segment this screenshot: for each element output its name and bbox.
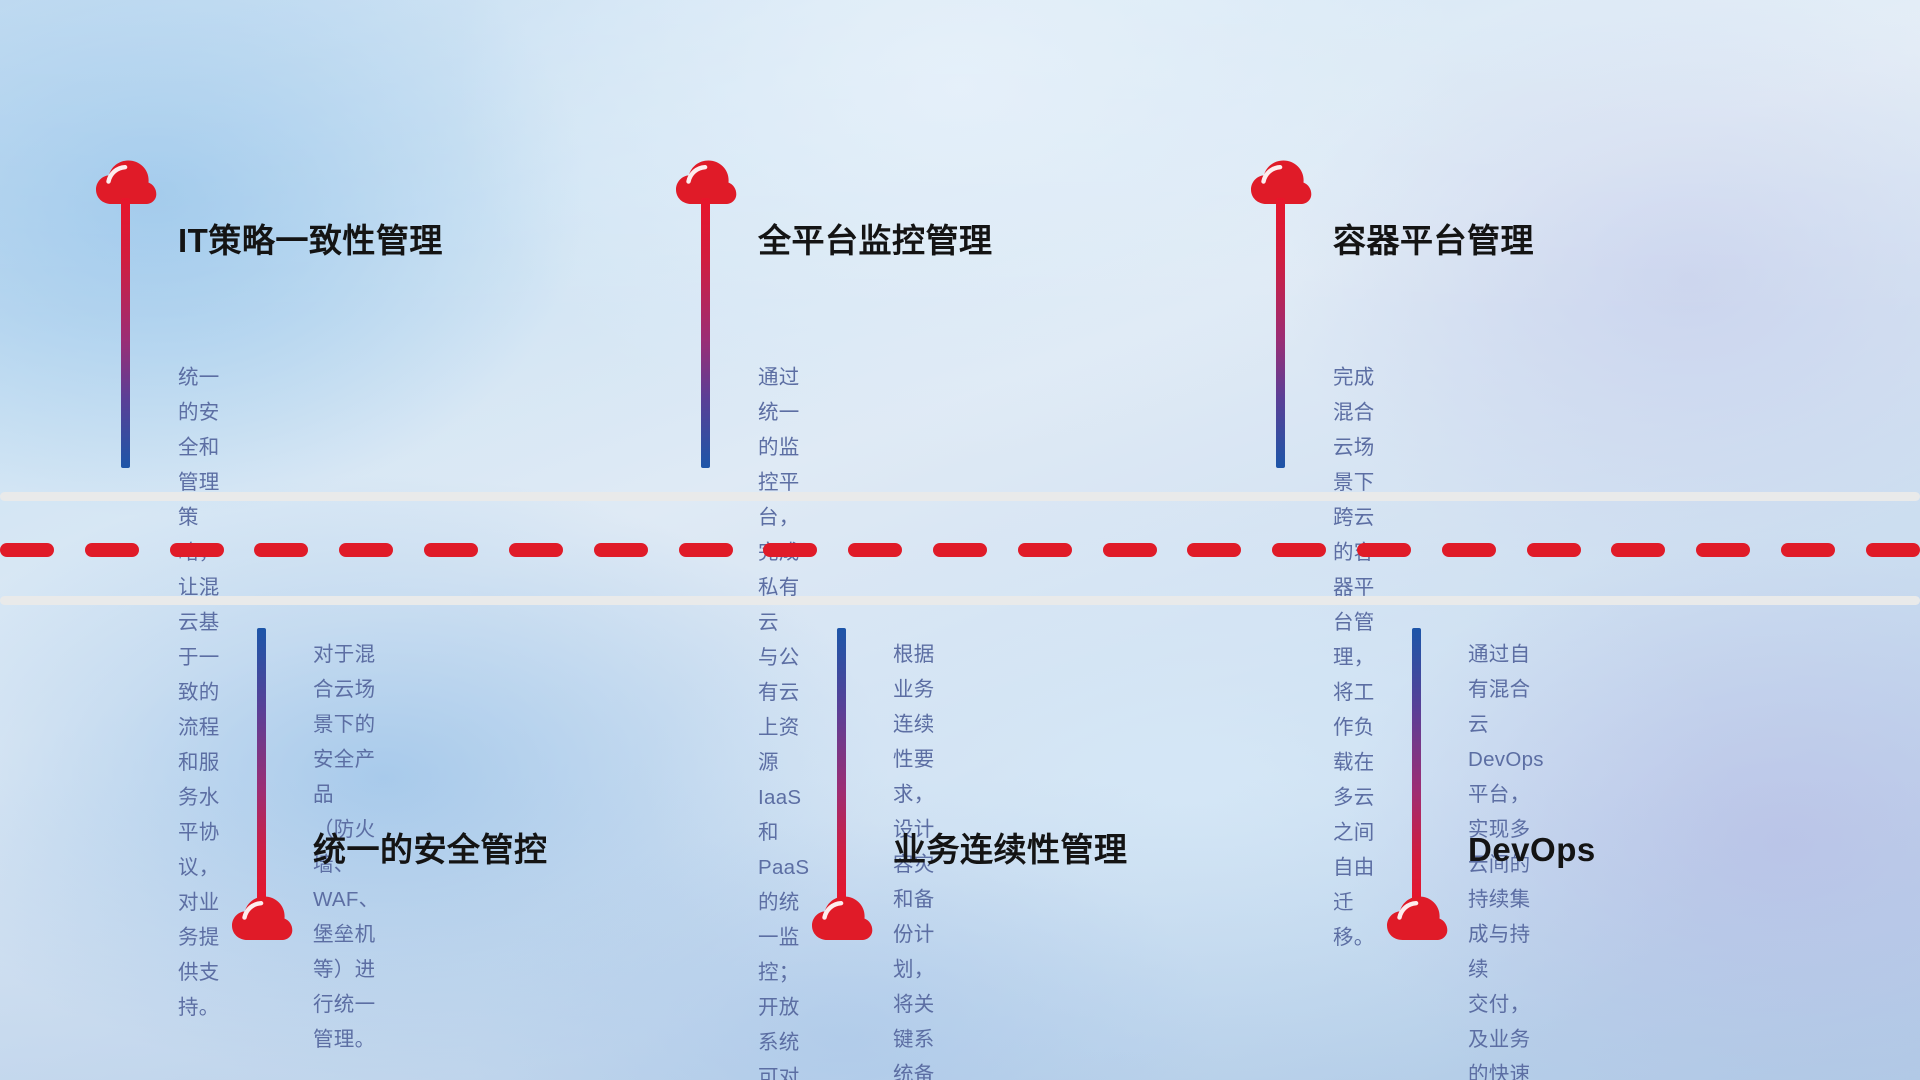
road-dash bbox=[1018, 543, 1072, 557]
item-title: 容器平台管理 bbox=[1333, 224, 1534, 257]
item-title: 统一的安全管控 bbox=[313, 833, 548, 866]
item-title: 全平台监控管理 bbox=[758, 224, 993, 257]
item-body: 统一的安全和管理策略，让混 云基于一致的流程和服务水平协 议，对业务提供支持。 bbox=[178, 360, 220, 1025]
road-dash bbox=[1442, 543, 1496, 557]
item-title: DevOps bbox=[1468, 833, 1596, 866]
road-dash bbox=[1781, 543, 1835, 557]
road-dash bbox=[763, 543, 817, 557]
item-title: 业务连续性管理 bbox=[893, 833, 1128, 866]
road-dash bbox=[1357, 543, 1411, 557]
road-line-bottom bbox=[0, 596, 1920, 605]
road-dash bbox=[679, 543, 733, 557]
road-dash bbox=[424, 543, 478, 557]
road-dash bbox=[0, 543, 54, 557]
road-dash bbox=[170, 543, 224, 557]
road-dash bbox=[933, 543, 987, 557]
road-line-top bbox=[0, 492, 1920, 501]
cloud-icon bbox=[231, 896, 293, 942]
road-dash bbox=[1866, 543, 1920, 557]
connector-line bbox=[837, 628, 846, 906]
connector-line bbox=[1412, 628, 1421, 906]
connector-line bbox=[1276, 198, 1285, 468]
road-dash bbox=[848, 543, 902, 557]
item-body: 通过统一的监控平台，完成私有云 与公有云上资源IaaS和PaaS的统 一监控；开… bbox=[758, 360, 809, 1080]
road-dash bbox=[1103, 543, 1157, 557]
connector-line bbox=[121, 198, 130, 468]
road-dash bbox=[1272, 543, 1326, 557]
road-dash bbox=[1611, 543, 1665, 557]
connector-line bbox=[701, 198, 710, 468]
road-dashes bbox=[0, 543, 1920, 557]
cloud-icon bbox=[811, 896, 873, 942]
item-body: 完成混合云场景下跨云的容器平 台管理，将工作负载在多云之间 自由迁移。 bbox=[1333, 360, 1375, 955]
road-dash bbox=[1696, 543, 1750, 557]
cloud-icon bbox=[1386, 896, 1448, 942]
road-dash bbox=[509, 543, 563, 557]
road-dash bbox=[339, 543, 393, 557]
road-dash bbox=[1187, 543, 1241, 557]
road-dash bbox=[85, 543, 139, 557]
item-title: IT策略一致性管理 bbox=[178, 224, 443, 257]
road-dash bbox=[1527, 543, 1581, 557]
road-dash bbox=[254, 543, 308, 557]
connector-line bbox=[257, 628, 266, 906]
road-dash bbox=[594, 543, 648, 557]
